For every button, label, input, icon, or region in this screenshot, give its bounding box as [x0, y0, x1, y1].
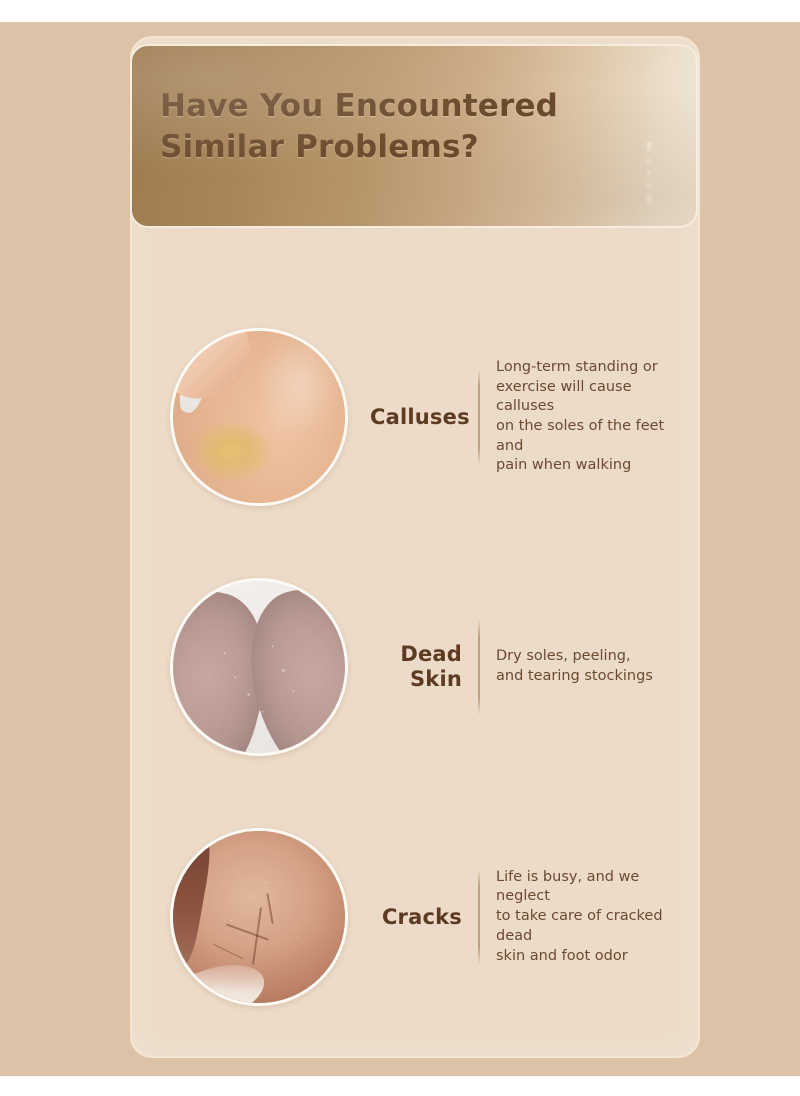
- banner-title: Have You Encountered Similar Problems?: [160, 86, 680, 168]
- cracked-heel-photo: [170, 828, 348, 1006]
- problem-copy: Calluses Long-term standing or exercise …: [370, 358, 700, 476]
- problem-list: Calluses Long-term standing or exercise …: [130, 250, 700, 1050]
- problem-description: Life is busy, and we neglect to take car…: [480, 868, 686, 967]
- problem-label: Dead Skin: [370, 642, 478, 692]
- problem-item-dead-skin: Dead Skin Dry soles, peeling, and tearin…: [130, 542, 700, 792]
- infographic-poster: Have You Encountered Similar Problems? C…: [0, 0, 800, 1096]
- callus-foot-photo: [170, 328, 348, 506]
- problem-label: Cracks: [370, 905, 478, 930]
- problem-description: Dry soles, peeling, and tearing stocking…: [480, 647, 686, 686]
- dead-skin-foot-photo: [170, 578, 348, 756]
- problem-copy: Dead Skin Dry soles, peeling, and tearin…: [370, 619, 700, 715]
- vertical-dots-ornament-icon: [644, 142, 654, 204]
- problem-label: Calluses: [370, 405, 478, 430]
- problem-copy: Cracks Life is busy, and we neglect to t…: [370, 868, 700, 967]
- problem-description: Long-term standing or exercise will caus…: [480, 358, 686, 476]
- problem-item-cracks: Cracks Life is busy, and we neglect to t…: [130, 792, 700, 1042]
- header-banner: Have You Encountered Similar Problems?: [130, 44, 698, 228]
- problem-item-calluses: Calluses Long-term standing or exercise …: [130, 292, 700, 542]
